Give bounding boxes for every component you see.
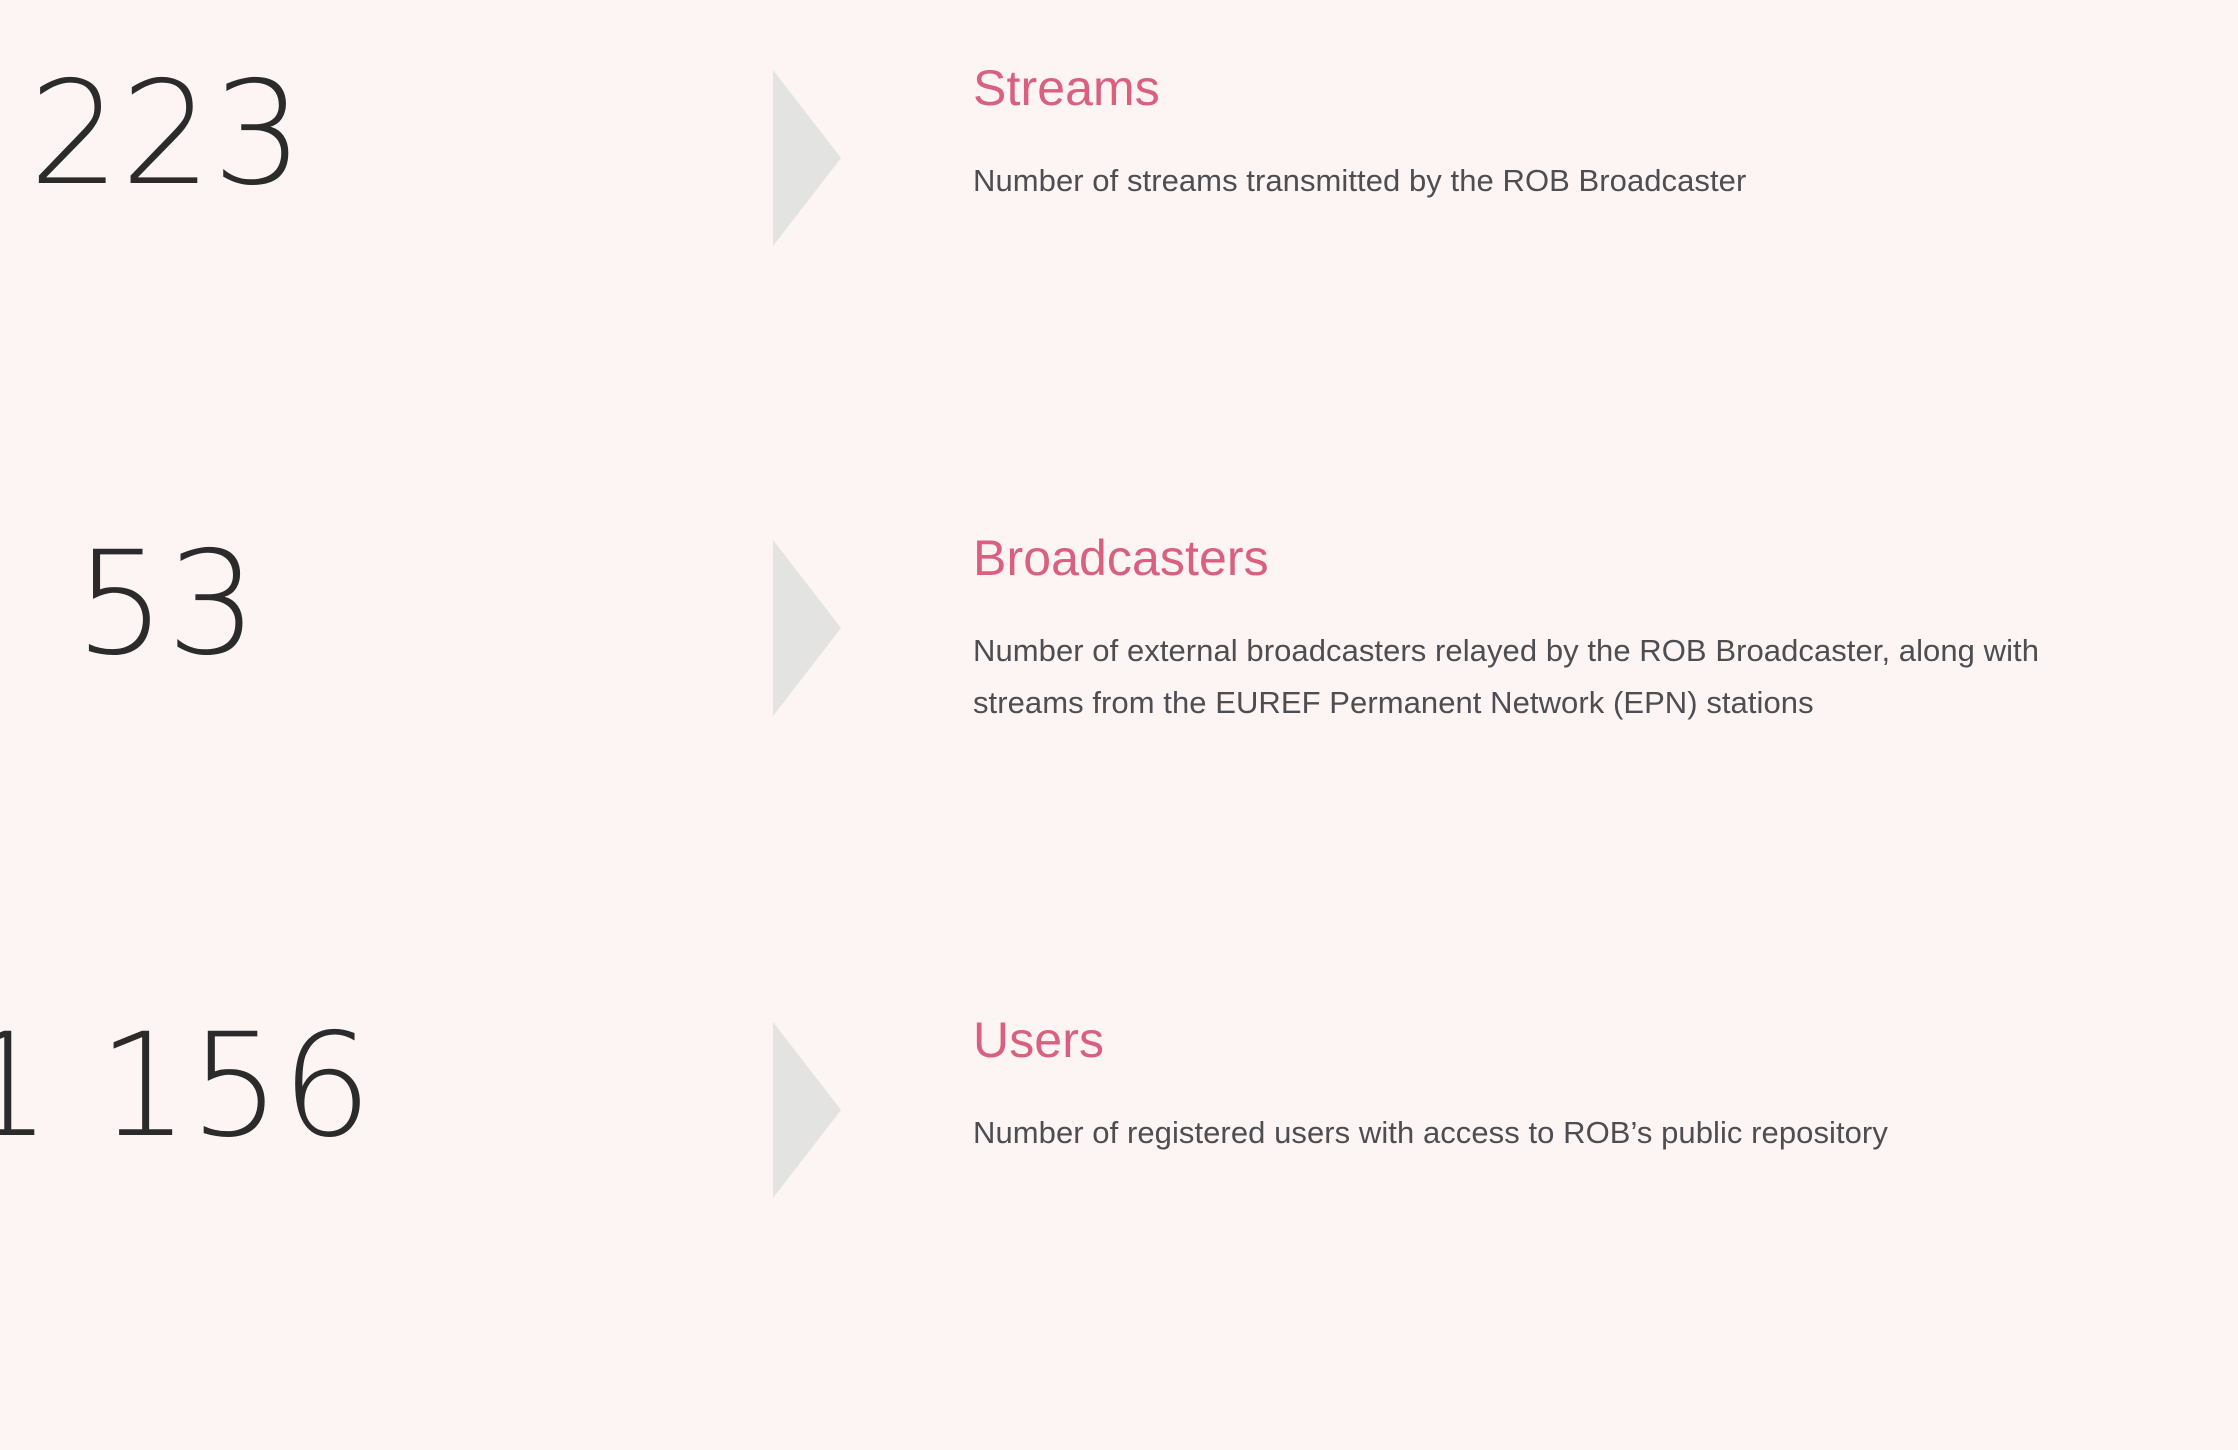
triangle-right-icon	[773, 540, 841, 716]
stat-row: 223 Streams Number of streams transmitte…	[0, 62, 2238, 207]
stat-heading: Streams	[973, 62, 2138, 115]
stat-heading: Users	[973, 1014, 2138, 1067]
stat-heading: Broadcasters	[973, 532, 2138, 585]
stat-description: Number of registered users with access t…	[973, 1067, 2093, 1159]
stat-description: Number of streams transmitted by the ROB…	[973, 115, 2138, 207]
stat-figure-container: 1 156	[0, 1014, 773, 1157]
stat-figure-container: 223	[0, 62, 773, 205]
stat-figure-value: 1 156	[0, 1014, 373, 1157]
stat-figure-value: 223	[29, 62, 304, 205]
statistics-panel: 223 Streams Number of streams transmitte…	[0, 0, 2238, 1450]
stat-description: Number of external broadcasters relayed …	[973, 585, 2138, 729]
stat-figure-container: 53	[0, 532, 773, 675]
stat-text-container: Streams Number of streams transmitted by…	[973, 62, 2238, 207]
stat-row: 53 Broadcasters Number of external broad…	[0, 532, 2238, 729]
stat-figure-value: 53	[75, 532, 258, 675]
triangle-right-icon	[773, 1022, 841, 1198]
stat-text-container: Users Number of registered users with ac…	[973, 1014, 2238, 1159]
stat-text-container: Broadcasters Number of external broadcas…	[973, 532, 2238, 729]
stat-row: 1 156 Users Number of registered users w…	[0, 1014, 2238, 1159]
triangle-right-icon	[773, 70, 841, 246]
